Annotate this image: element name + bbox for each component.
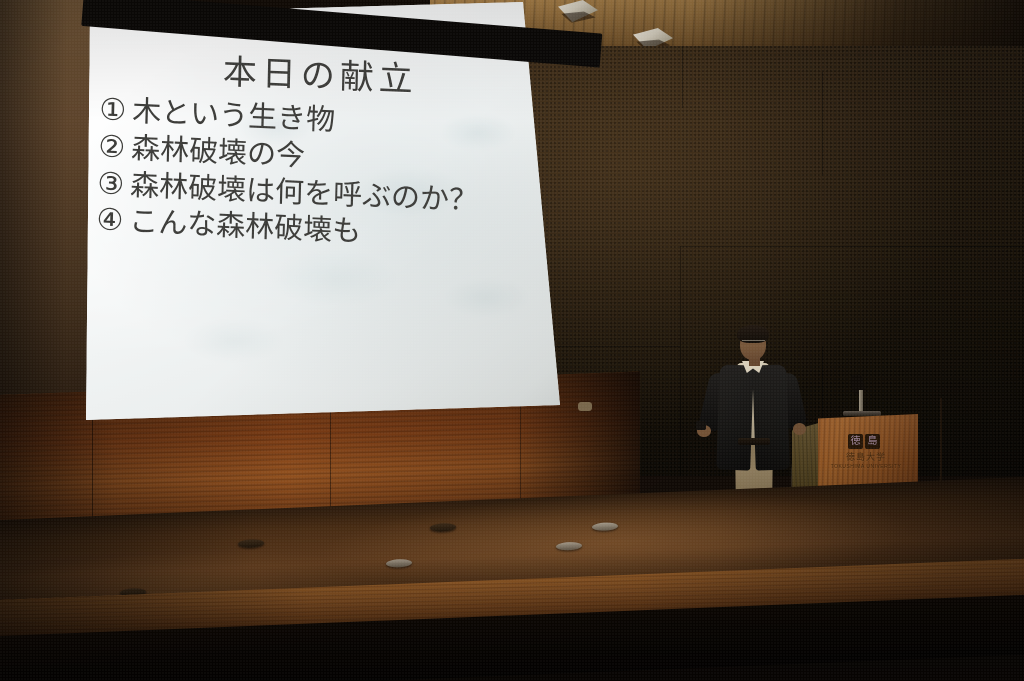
speaker-belt: [738, 438, 770, 445]
presenter-remote-icon: [696, 421, 706, 430]
screen-roller-knob: [578, 402, 592, 411]
left-wall: [0, 0, 96, 400]
logo-glyph-left: 徳: [848, 434, 863, 449]
logo-glyph-right: 島: [865, 434, 880, 449]
university-logo: 徳 島: [840, 432, 888, 450]
glasses-icon: [742, 340, 765, 346]
university-name: 徳島大学 TOKUSHIMA UNIVERSITY: [830, 450, 902, 470]
speaker-jacket-left: [716, 364, 754, 470]
ceiling-light-1-icon: [558, 0, 598, 22]
university-name-en: TOKUSHIMA UNIVERSITY: [830, 464, 902, 470]
speaker-right-hand: [793, 423, 806, 435]
lecture-hall-photo: 本日の献立 ① 木という生き物 ② 森林破壊の今 ③ 森林破壊は何を呼ぶのか？ …: [0, 0, 1024, 681]
speaker-jacket-right: [752, 364, 790, 470]
microphone-icon: [843, 372, 881, 416]
university-name-ja: 徳島大学: [846, 452, 886, 462]
